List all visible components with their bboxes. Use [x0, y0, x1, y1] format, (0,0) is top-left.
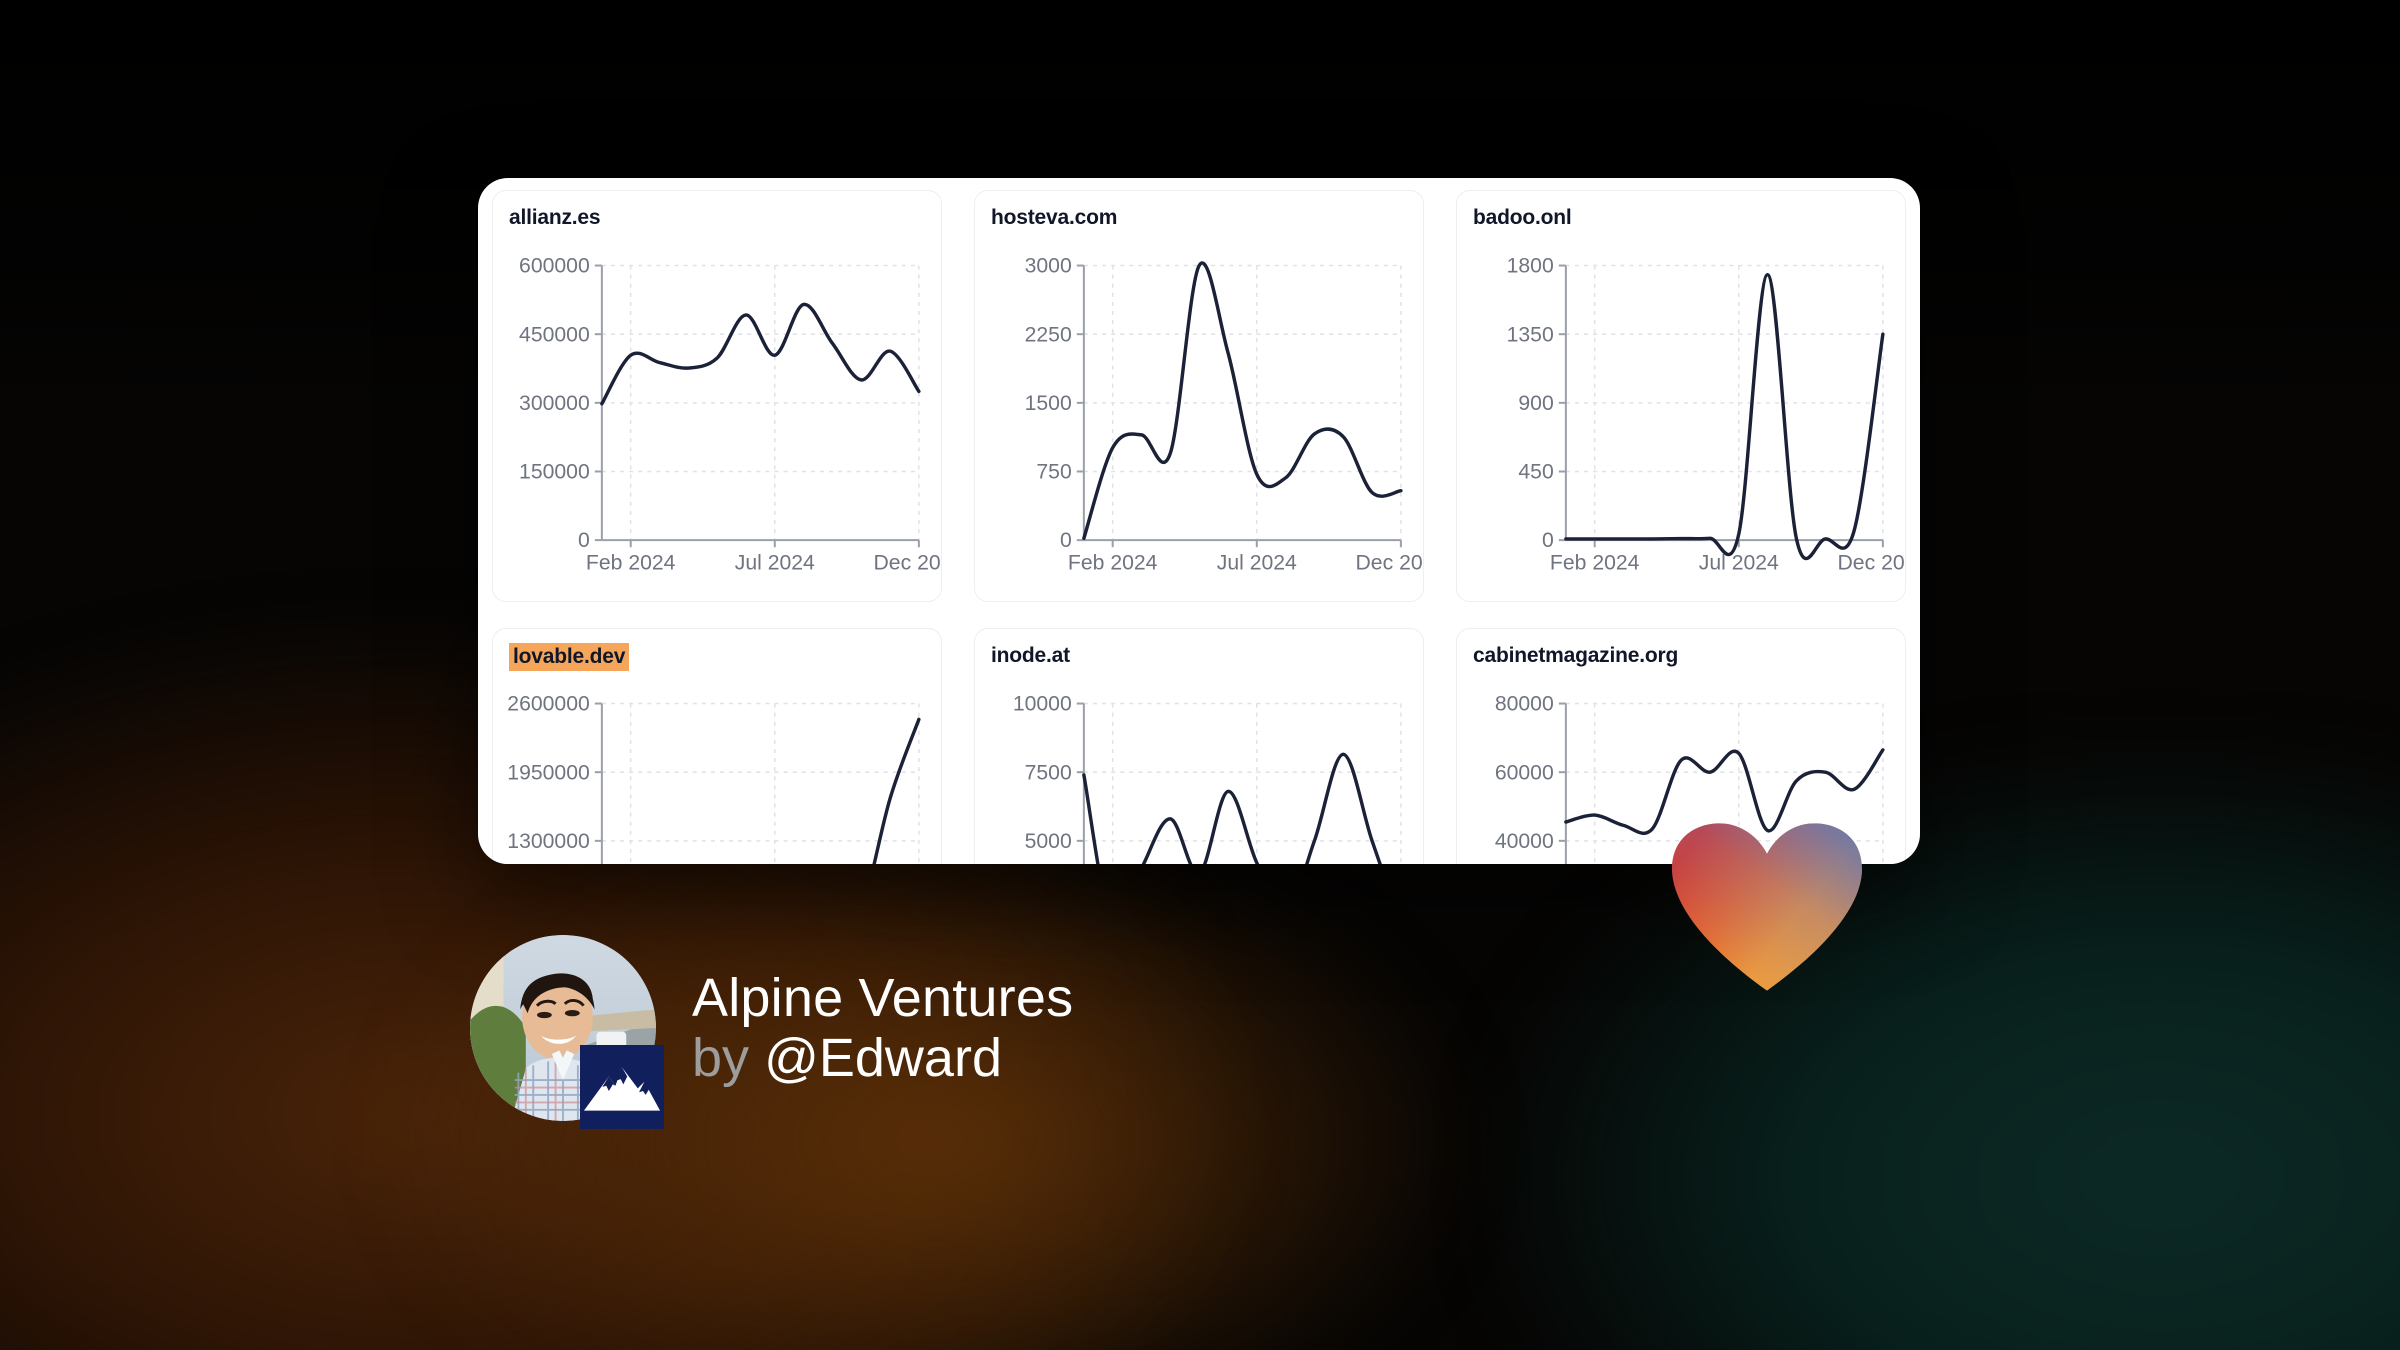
svg-text:0: 0	[1542, 529, 1554, 552]
profile-handle: @Edward	[764, 1028, 1002, 1088]
profile-text: Alpine Ventures by @Edward	[692, 968, 1073, 1089]
profile-title: Alpine Ventures	[692, 968, 1073, 1028]
chart-title: allianz.es	[509, 205, 600, 231]
svg-text:Feb 2024: Feb 2024	[586, 551, 676, 574]
svg-text:450: 450	[1518, 461, 1553, 484]
chart-title: badoo.onl	[1473, 205, 1572, 231]
chart-plot: 045090013501800Feb 2024Jul 2024Dec 2024	[1473, 243, 1897, 597]
chart-cell[interactable]: allianz.es0150000300000450000600000Feb 2…	[492, 190, 942, 602]
svg-text:7500: 7500	[1025, 761, 1072, 784]
svg-text:1300000: 1300000	[507, 830, 589, 853]
chart-grid: allianz.es0150000300000450000600000Feb 2…	[478, 178, 1920, 864]
svg-text:1800: 1800	[1507, 255, 1554, 278]
svg-text:80000: 80000	[1495, 693, 1554, 716]
svg-text:3000: 3000	[1025, 255, 1072, 278]
svg-text:0: 0	[1060, 529, 1072, 552]
profile-byline: by @Edward	[692, 1028, 1073, 1088]
chart-title: lovable.dev	[509, 643, 629, 671]
svg-text:60000: 60000	[1495, 761, 1554, 784]
by-label: by	[692, 1028, 749, 1088]
svg-text:750: 750	[1036, 461, 1071, 484]
avatar	[470, 935, 656, 1121]
svg-text:Dec 2024: Dec 2024	[1356, 551, 1424, 574]
svg-text:1950000: 1950000	[507, 761, 589, 784]
chart-title: inode.at	[991, 643, 1070, 669]
chart-cell[interactable]: lovable.dev650000130000019500002600000Fe…	[492, 628, 942, 864]
svg-text:Dec 2024: Dec 2024	[1838, 551, 1906, 574]
svg-text:40000: 40000	[1495, 830, 1554, 853]
svg-text:900: 900	[1518, 392, 1553, 415]
chart-title: cabinetmagazine.org	[1473, 643, 1678, 669]
mountain-logo-badge	[580, 1045, 664, 1129]
chart-plot: 25005000750010000Feb 2024Jul 2024Dec 202…	[991, 681, 1415, 864]
svg-text:Jul 2024: Jul 2024	[735, 551, 815, 574]
svg-text:450000: 450000	[519, 323, 590, 346]
svg-text:1350: 1350	[1507, 323, 1554, 346]
chart-cell[interactable]: hosteva.com0750150022503000Feb 2024Jul 2…	[974, 190, 1424, 602]
chart-title: hosteva.com	[991, 205, 1117, 231]
svg-text:Feb 2024: Feb 2024	[1550, 551, 1640, 574]
svg-text:300000: 300000	[519, 392, 590, 415]
dashboard-card: allianz.es0150000300000450000600000Feb 2…	[478, 178, 1920, 864]
svg-text:Jul 2024: Jul 2024	[1217, 551, 1297, 574]
chart-plot: 650000130000019500002600000Feb 2024Jul 2…	[509, 681, 933, 864]
svg-text:150000: 150000	[519, 461, 590, 484]
chart-cell[interactable]: badoo.onl045090013501800Feb 2024Jul 2024…	[1456, 190, 1906, 602]
svg-text:5000: 5000	[1025, 830, 1072, 853]
svg-text:2250: 2250	[1025, 323, 1072, 346]
svg-text:2600000: 2600000	[507, 693, 589, 716]
profile-footer: Alpine Ventures by @Edward	[470, 935, 1073, 1121]
svg-text:0: 0	[578, 529, 590, 552]
heart-icon	[1672, 812, 1862, 1002]
svg-text:Dec 2024: Dec 2024	[874, 551, 942, 574]
chart-plot: 0750150022503000Feb 2024Jul 2024Dec 2024	[991, 243, 1415, 597]
svg-text:1500: 1500	[1025, 392, 1072, 415]
svg-text:Feb 2024: Feb 2024	[1068, 551, 1158, 574]
svg-text:10000: 10000	[1013, 693, 1072, 716]
chart-cell[interactable]: inode.at25005000750010000Feb 2024Jul 202…	[974, 628, 1424, 864]
chart-plot: 0150000300000450000600000Feb 2024Jul 202…	[509, 243, 933, 597]
svg-text:600000: 600000	[519, 255, 590, 278]
svg-text:Jul 2024: Jul 2024	[1699, 551, 1779, 574]
